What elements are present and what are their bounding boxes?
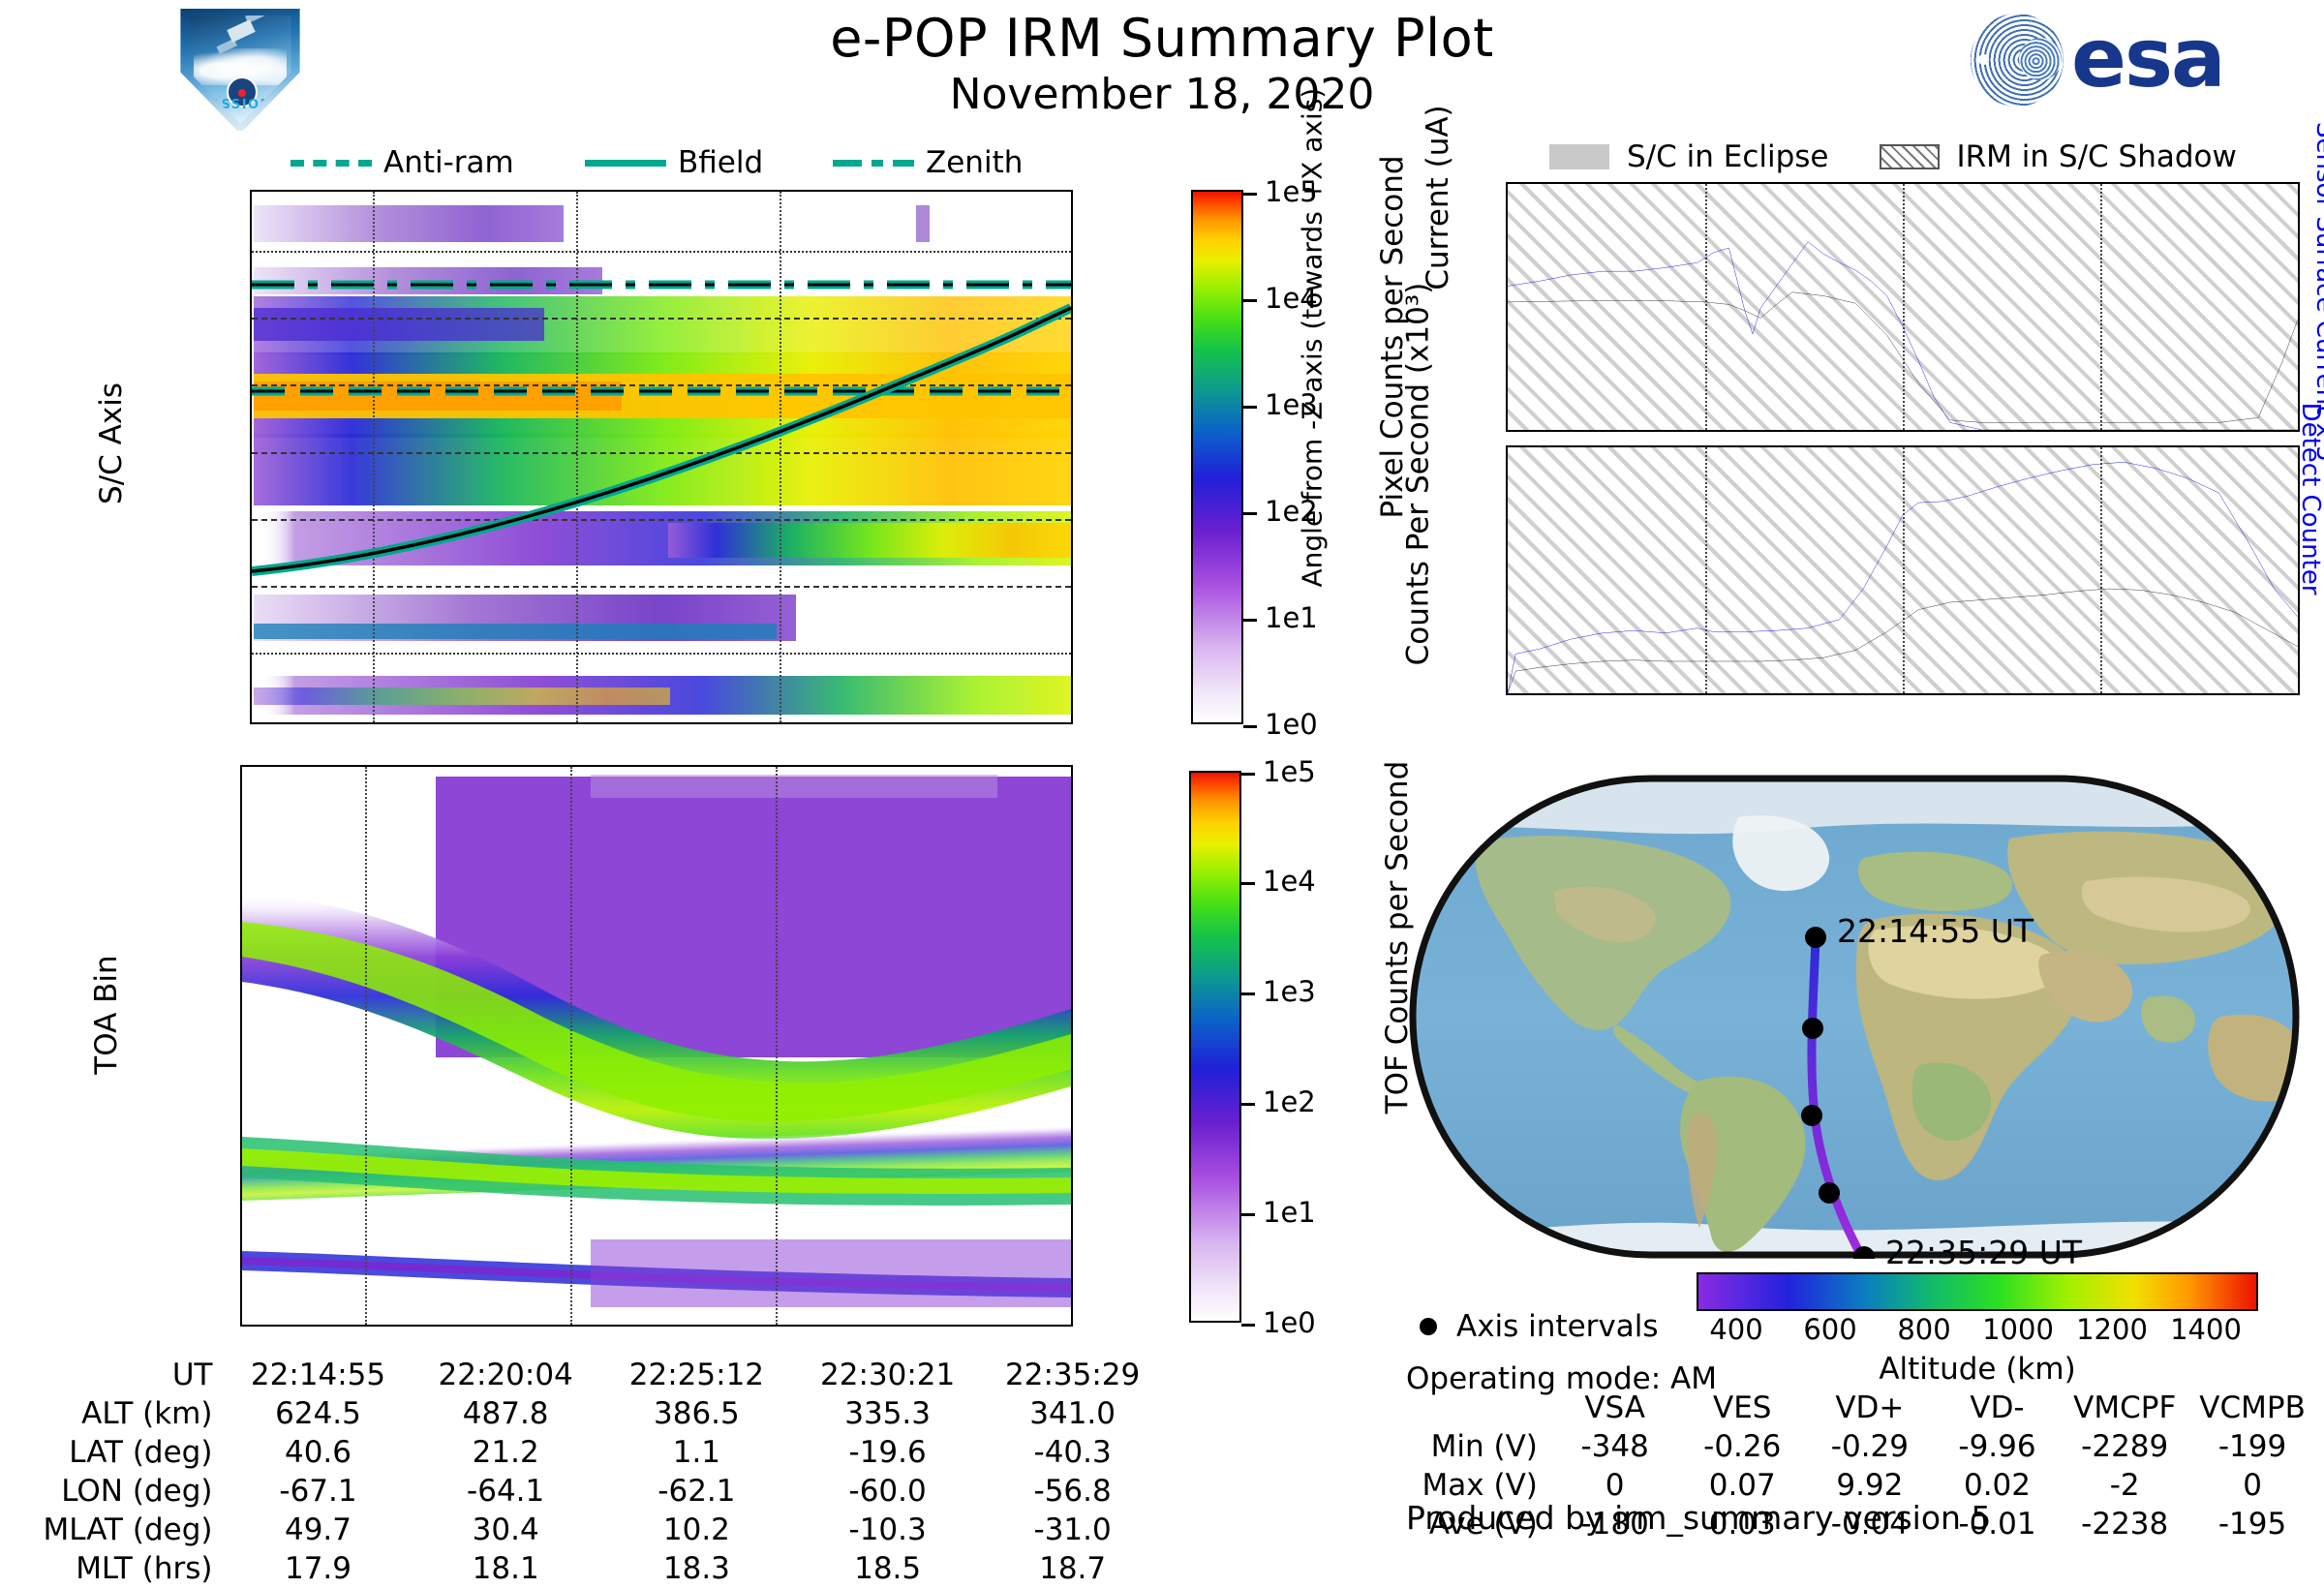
- panel1-ytick-right-6: 270: [1071, 301, 1073, 334]
- panel4-ytick-200: 200: [1506, 445, 1508, 468]
- panel4-xtick-1: 22:20:04: [1642, 693, 1768, 695]
- cbar1-tick-1: 1e1: [1265, 601, 1318, 634]
- cbar1-tick-2: 1e2: [1265, 495, 1318, 528]
- table-row: Min (V)-348-0.26-0.29-9.96-2289-199: [1406, 1427, 2316, 1466]
- panel1-ylabel: S/C Axis: [94, 327, 129, 560]
- legend-item-zenith: Zenith: [833, 145, 1023, 180]
- legend-item-bfield: Bfield: [585, 145, 763, 180]
- panel1-ytick-label-1: -Z/+X: [250, 636, 252, 669]
- panel1-ytick-right-2: 90: [1071, 569, 1073, 602]
- altitude-colorbar: [1697, 1272, 2258, 1311]
- table-row: ALT (km)624.5487.8386.5335.3341.0: [39, 1394, 1162, 1433]
- cbar2-tick-2: 1e2: [1263, 1085, 1316, 1118]
- panel2-ytick-1: 1: [240, 1302, 242, 1327]
- ephemeris-cell: -60.0: [792, 1472, 983, 1511]
- ephemeris-cell: -10.3: [792, 1511, 983, 1549]
- panel3-gridline-1: [1705, 184, 1707, 430]
- panel2-gridline-3: [776, 767, 778, 1325]
- ephemeris-cell: 22:14:55: [226, 1356, 410, 1394]
- ephemeris-cell: 335.3: [792, 1394, 983, 1433]
- panel1-ytick-right-4: 180: [1071, 436, 1073, 469]
- panel1-ytick-right-5: 225: [1071, 368, 1073, 401]
- shadow-hatch-swatch-icon: [1880, 144, 1940, 169]
- panel3-gridline-2: [1903, 184, 1905, 430]
- ephemeris-cell: 22:25:12: [601, 1356, 792, 1394]
- ephemeris-row-label: LAT (deg): [39, 1433, 226, 1472]
- eclipse-swatch-icon: [1549, 144, 1609, 169]
- voltage-column-header: VCMPB: [2188, 1389, 2316, 1427]
- panel2-ytick-50: 50: [240, 1172, 242, 1205]
- ephemeris-row-label: UT: [39, 1356, 226, 1394]
- satellite-icon: [227, 19, 255, 43]
- voltage-cell: -195: [2188, 1505, 2316, 1543]
- ephemeris-cell: 22:30:21: [792, 1356, 983, 1394]
- solid-line-icon: [585, 160, 666, 167]
- panel1-ytick-right-3: 135: [1071, 503, 1073, 535]
- dash-dot-line-icon: [833, 160, 914, 167]
- ephemeris-cell: -64.1: [411, 1472, 601, 1511]
- cbar2-tick-3: 1e3: [1263, 975, 1316, 1008]
- voltage-column-header: VD-: [1934, 1389, 2062, 1427]
- legend-label-bfield: Bfield: [678, 145, 763, 180]
- panel1-ytick-label-4: +Z: [250, 436, 252, 469]
- panel3-ytick-10: 10: [1506, 182, 1508, 204]
- voltage-column-header: VD+: [1806, 1389, 1934, 1427]
- panel2-ytick-150: 150: [240, 903, 242, 936]
- alt-tick-1000: 1000: [1982, 1313, 2054, 1346]
- legend-label-zenith: Zenith: [926, 145, 1023, 180]
- panel2-ytick-100: 100: [240, 1038, 242, 1071]
- produced-by-label: Produced by irm_summary version 5: [1406, 1499, 1991, 1537]
- panel3-gridline-3: [2100, 184, 2102, 430]
- panel1-ytick-label-0: -Z: [250, 701, 252, 724]
- esa-logo-text: esa: [2071, 17, 2224, 99]
- panel4-ytick-100: 100: [1506, 554, 1508, 587]
- ephemeris-cell: -31.0: [983, 1511, 1162, 1549]
- voltage-cell: -199: [2188, 1427, 2316, 1466]
- ground-track-map[interactable]: 22:14:55 UT 22:35:29 UT: [1409, 775, 2300, 1259]
- voltage-row-label: Min (V): [1406, 1427, 1551, 1466]
- cassiope-mission-logo: CASSIOPE: [172, 6, 308, 134]
- panel1-ytick-label-3: +X/+Z: [250, 503, 252, 535]
- ephemeris-cell: 18.3: [601, 1549, 792, 1588]
- axis-intervals-legend: Axis intervals: [1420, 1309, 1659, 1344]
- panel4-xtick-3: 22:30:21: [2037, 693, 2163, 695]
- panel1-ytick-right-1: 45: [1071, 636, 1073, 669]
- voltage-cell: -2289: [2061, 1427, 2188, 1466]
- panel3-ytick-5: 5: [1506, 231, 1508, 264]
- voltage-cell: -348: [1551, 1427, 1679, 1466]
- panel1-ytick-label-7: -X/-Z: [250, 234, 252, 267]
- ephemeris-cell: 18.5: [792, 1549, 983, 1588]
- voltage-cell: -0.29: [1806, 1427, 1934, 1466]
- ephemeris-row-label: ALT (km): [39, 1394, 226, 1433]
- panel3-right-label-blue: Sensor Surface Current x 5: [2310, 122, 2324, 364]
- table-row: LAT (deg)40.621.21.1-19.6-40.3: [39, 1433, 1162, 1472]
- ephemeris-cell: 341.0: [983, 1394, 1162, 1433]
- cbar2-tick-4: 1e4: [1263, 865, 1316, 898]
- tof-toa-spectrogram-panel[interactable]: 200 150 100 50 1: [240, 765, 1073, 1327]
- panel4-ytick-0: 0: [1506, 673, 1508, 695]
- voltage-corner-cell: [1406, 1389, 1551, 1427]
- ephemeris-cell: 18.7: [983, 1549, 1162, 1588]
- legend-label-eclipse: S/C in Eclipse: [1627, 139, 1829, 174]
- panel4-ytick-150: 150: [1506, 495, 1508, 528]
- altitude-colorbar-title: Altitude (km): [1697, 1352, 2258, 1387]
- ephemeris-cell: -56.8: [983, 1472, 1162, 1511]
- panel4-xtick-0: 22:14:55: [1506, 693, 1571, 695]
- ephemeris-table-grid: UT22:14:5522:20:0422:25:1222:30:2122:35:…: [39, 1356, 1162, 1588]
- voltage-cell: -9.96: [1934, 1427, 2062, 1466]
- cbar2-tick-1: 1e1: [1263, 1196, 1316, 1229]
- panel2-gridline-2: [570, 767, 572, 1325]
- ephemeris-cell: -19.6: [792, 1433, 983, 1472]
- cbar1-tick-5: 1e5: [1265, 175, 1318, 208]
- ephemeris-cell: 1.1: [601, 1433, 792, 1472]
- cbar2-tick-0: 1e0: [1263, 1306, 1316, 1339]
- axis-intervals-label: Axis intervals: [1456, 1309, 1659, 1344]
- cbar1-tick-4: 1e4: [1265, 282, 1318, 315]
- map-end-time-label: 22:35:29 UT: [1885, 1234, 2082, 1271]
- legend-label-shadow: IRM in S/C Shadow: [1957, 139, 2237, 174]
- panel4-xtick-4: 22:35:29: [2235, 693, 2300, 695]
- bfield-trace: [252, 308, 1071, 571]
- ephemeris-cell: 21.2: [411, 1433, 601, 1472]
- panel2-ylabel: TOA Bin: [89, 918, 124, 1112]
- ephemeris-cell: 49.7: [226, 1511, 410, 1549]
- cbar2-tick-5: 1e5: [1263, 755, 1316, 788]
- panel4-gridline-1: [1705, 447, 1707, 693]
- panel1-ytick-label-5: +Z/-X: [250, 368, 252, 401]
- pixel-counts-colorbar: [1191, 190, 1243, 724]
- table-row: UT22:14:5522:20:0422:25:1222:30:2122:35:…: [39, 1356, 1162, 1394]
- table-row: MLT (hrs)17.918.118.318.518.7: [39, 1549, 1162, 1588]
- panel2-gridline-1: [365, 767, 367, 1325]
- ephemeris-cell: 386.5: [601, 1394, 792, 1433]
- cassiope-logo-text: CASSIOPE: [182, 98, 298, 112]
- pixel-angle-spectrogram-panel[interactable]: -X/-Z -X +Z/-X +Z +X/+Z +X -Z/+X -Z 315 …: [250, 190, 1073, 724]
- ephemeris-table: UT22:14:5522:20:0422:25:1222:30:2122:35:…: [39, 1356, 1162, 1588]
- voltage-column-header: VMCPF: [2061, 1389, 2188, 1427]
- ephemeris-cell: 487.8: [411, 1394, 601, 1433]
- legend-item-anti-ram: Anti-ram: [290, 145, 514, 180]
- panel4-xtick-2: 22:25:12: [1840, 693, 1966, 695]
- ephemeris-cell: 40.6: [226, 1433, 410, 1472]
- ephemeris-cell: -40.3: [983, 1433, 1162, 1472]
- panel3-ytick-m5: -5: [1506, 350, 1508, 382]
- voltage-cell: 0: [2188, 1466, 2316, 1505]
- table-header-row: VSAVESVD+VD-VMCPFVCMPB: [1406, 1389, 2316, 1427]
- esa-logo: esa: [1971, 14, 2309, 107]
- map-start-time-label: 22:14:55 UT: [1837, 912, 2033, 950]
- ephemeris-cell: 10.2: [601, 1511, 792, 1549]
- voltage-column-header: VSA: [1551, 1389, 1679, 1427]
- panel4-gridline-2: [1903, 447, 1905, 693]
- dashed-line-icon: [290, 160, 372, 167]
- ephemeris-row-label: LON (deg): [39, 1472, 226, 1511]
- panel3-ytick-0: 0: [1506, 290, 1508, 323]
- ephemeris-row-label: MLT (hrs): [39, 1549, 226, 1588]
- world-map-image: [1409, 775, 2300, 1259]
- alt-tick-1200: 1200: [2076, 1313, 2148, 1346]
- altitude-colorbar-ticks: 400 600 800 1000 1200 1400: [1697, 1313, 2258, 1346]
- ephemeris-cell: -62.1: [601, 1472, 792, 1511]
- panel1-ytick-label-2: +X: [250, 569, 252, 602]
- alt-tick-800: 800: [1897, 1313, 1950, 1346]
- table-row: LON (deg)-67.1-64.1-62.1-60.0-56.8: [39, 1472, 1162, 1511]
- cbar1-tick-3: 1e3: [1265, 388, 1318, 421]
- table-row: MLAT (deg)49.730.410.2-10.3-31.0: [39, 1511, 1162, 1549]
- voltage-cell: -2238: [2061, 1505, 2188, 1543]
- cassiope-shield-inner: CASSIOPE: [182, 15, 298, 124]
- panel4-ytick-50: 50: [1506, 613, 1508, 646]
- legend-label-anti-ram: Anti-ram: [383, 145, 514, 180]
- sensor-surface-current-panel[interactable]: 10 5 0 -5 -10: [1506, 182, 2300, 432]
- panel4-ylabel: Counts Per Second (x10³): [1402, 355, 1436, 665]
- panel4-right-label-black: Hit Counter: [2319, 400, 2324, 594]
- panel4-gridline-3: [2100, 447, 2102, 693]
- ephemeris-cell: -67.1: [226, 1472, 410, 1511]
- alt-tick-1400: 1400: [2170, 1313, 2242, 1346]
- panel1-ytick-right-7: 315: [1071, 234, 1073, 267]
- voltage-column-header: VES: [1678, 1389, 1806, 1427]
- panel2-ytick-200: 200: [240, 767, 242, 800]
- shadow-legend: S/C in Eclipse IRM in S/C Shadow: [1549, 139, 2237, 174]
- counts-per-second-panel[interactable]: 200 150 100 50 0 22:14:55 22:20:04 22:25…: [1506, 445, 2300, 695]
- alt-tick-600: 600: [1803, 1313, 1856, 1346]
- ephemeris-cell: 22:20:04: [411, 1356, 601, 1394]
- cassiope-shield-icon: CASSIOPE: [172, 6, 308, 134]
- ephemeris-cell: 18.1: [411, 1549, 601, 1588]
- panel1-ytick-right-0: 0: [1071, 701, 1073, 724]
- ephemeris-cell: 30.4: [411, 1511, 601, 1549]
- voltage-cell: -0.26: [1678, 1427, 1806, 1466]
- esa-swirl-icon: [1971, 14, 2064, 107]
- dot-marker-icon: [1420, 1318, 1437, 1335]
- ephemeris-cell: 624.5: [226, 1394, 410, 1433]
- orientation-legend: Anti-ram Bfield Zenith: [290, 145, 1026, 180]
- panel3-ytick-m10: -10: [1506, 410, 1508, 432]
- ephemeris-row-label: MLAT (deg): [39, 1511, 226, 1549]
- ephemeris-cell: 17.9: [226, 1549, 410, 1588]
- alt-tick-400: 400: [1709, 1313, 1762, 1346]
- panel1-ytick-label-6: -X: [250, 301, 252, 334]
- panel1-overlay-traces: [252, 192, 1071, 722]
- tof-counts-colorbar: [1189, 771, 1241, 1323]
- ephemeris-cell: 22:35:29: [983, 1356, 1162, 1394]
- voltage-cell: -2: [2061, 1466, 2188, 1505]
- cbar1-tick-0: 1e0: [1265, 708, 1318, 741]
